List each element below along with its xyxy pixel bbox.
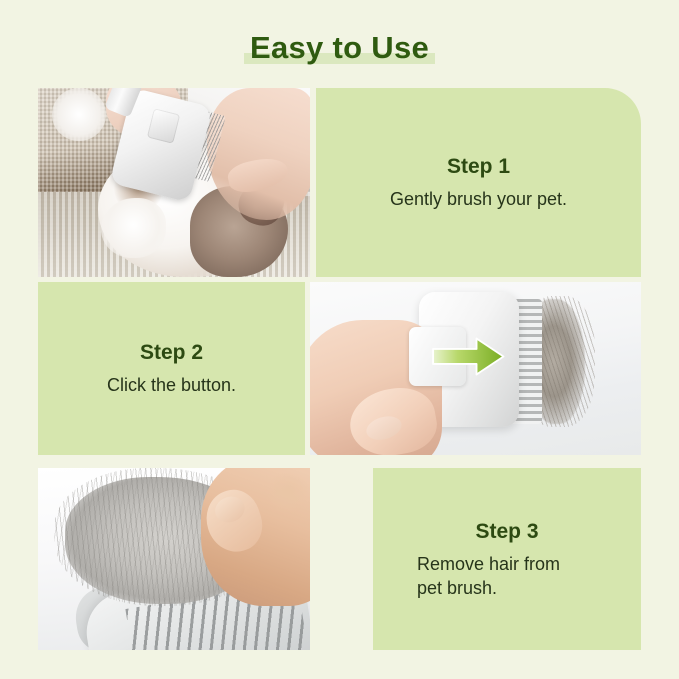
- cat-front-paw: [101, 198, 166, 258]
- step-2-title: Step 2: [38, 340, 305, 366]
- step-3-title: Step 3: [373, 519, 641, 545]
- step-2-description: Click the button.: [38, 373, 305, 397]
- step-1-panel: Step 1 Gently brush your pet.: [316, 88, 641, 277]
- step-2-panel: Step 2 Click the button.: [38, 282, 305, 455]
- step-3-panel: Step 3 Remove hair from pet brush.: [373, 468, 641, 650]
- cat-rear-paw: [52, 88, 106, 141]
- press-direction-arrow-icon: [426, 334, 512, 379]
- page-title: Easy to Use: [0, 28, 679, 78]
- step-1-photo: [38, 88, 310, 277]
- step-3-photo: [38, 468, 310, 650]
- infographic-page: Easy to Use Step 1 Gently brush your pet…: [0, 0, 679, 679]
- step-1-title: Step 1: [316, 154, 641, 180]
- step-2-photo: [310, 282, 641, 455]
- step-1-description: Gently brush your pet.: [316, 187, 641, 211]
- page-title-text: Easy to Use: [250, 30, 429, 65]
- step-3-description: Remove hair from pet brush.: [373, 552, 641, 600]
- step-3-description-line-1: Remove hair from: [417, 554, 560, 574]
- person-knuckle: [266, 472, 310, 512]
- title-inner: Easy to Use: [244, 28, 435, 68]
- step-3-description-line-2: pet brush.: [417, 578, 497, 598]
